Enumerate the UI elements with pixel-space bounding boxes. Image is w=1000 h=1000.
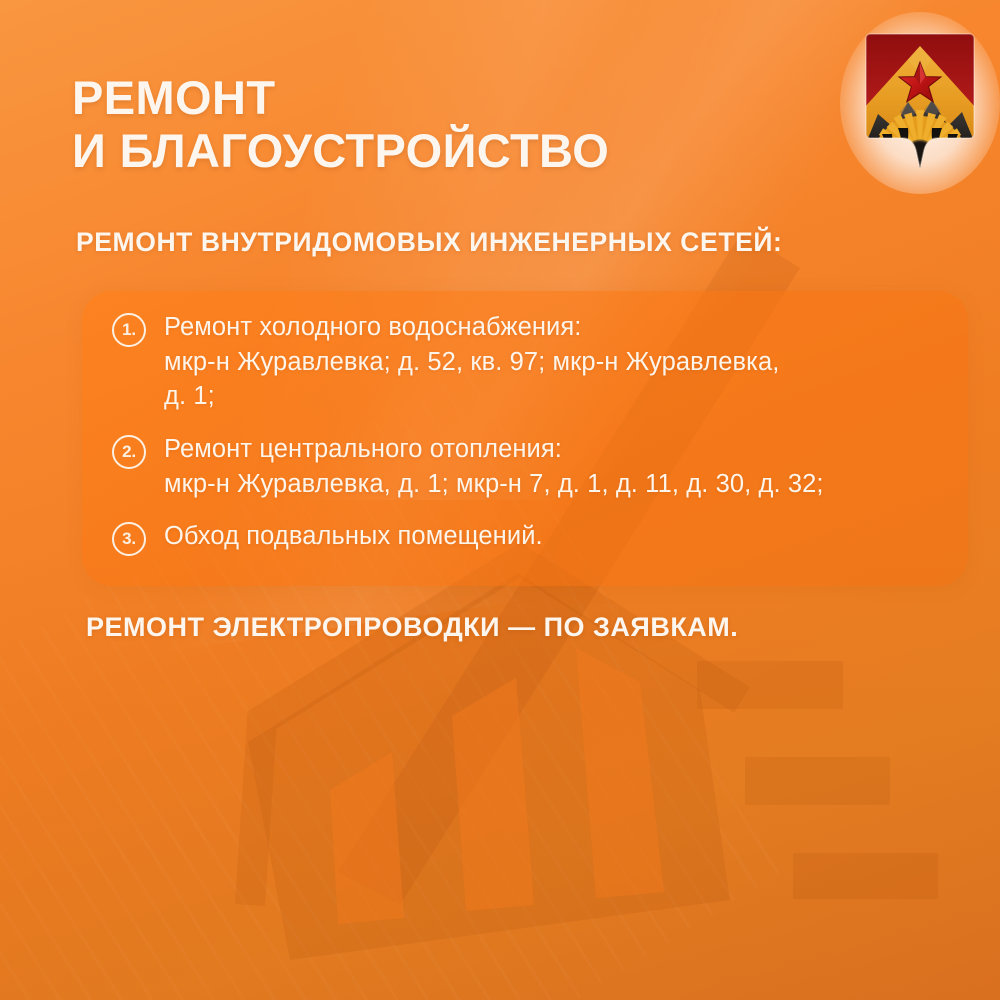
list-item: 1. Ремонт холодного водоснабжения: мкр-н… [112, 310, 982, 414]
brick-shape [793, 853, 938, 899]
coat-of-arms-icon [864, 30, 976, 176]
coat-of-arms-emblem [846, 18, 994, 188]
list-item-line: д. 1; [164, 379, 779, 414]
list-item-line: мкр-н Журавлевка; д. 52, кв. 97; мкр-н Ж… [164, 345, 779, 380]
title-line-1: РЕМОНТ [72, 71, 275, 124]
poster: РЕМОНТ И БЛАГОУСТРОЙСТВО РЕМОНТ ВНУТРИДО… [0, 0, 1000, 1000]
title-line-2: И БЛАГОУСТРОЙСТВО [72, 125, 772, 178]
list-item-text: Ремонт центрального отопления: мкр-н Жур… [164, 432, 824, 501]
works-list: 1. Ремонт холодного водоснабжения: мкр-н… [112, 310, 982, 556]
section-subtitle: РЕМОНТ ВНУТРИДОМОВЫХ ИНЖЕНЕРНЫХ СЕТЕЙ: [76, 227, 956, 258]
list-item-line: Обход подвальных помещений. [164, 519, 543, 554]
list-item: 3. Обход подвальных помещений. [112, 519, 982, 556]
brick-shape [745, 757, 890, 805]
list-item-text: Обход подвальных помещений. [164, 519, 543, 554]
brick-shape [697, 661, 843, 709]
list-item-line: мкр-н Журавлевка, д. 1; мкр-н 7, д. 1, д… [164, 467, 824, 502]
list-item: 2. Ремонт центрального отопления: мкр-н … [112, 432, 982, 501]
footnote-text: РЕМОНТ ЭЛЕКТРОПРОВОДКИ — ПО ЗАЯВКАМ. [86, 612, 738, 643]
list-item-text: Ремонт холодного водоснабжения: мкр-н Жу… [164, 310, 779, 414]
list-item-line: Ремонт холодного водоснабжения: [164, 310, 779, 345]
list-item-line: Ремонт центрального отопления: [164, 432, 824, 467]
list-number-badge: 3. [112, 522, 146, 556]
page-title: РЕМОНТ И БЛАГОУСТРОЙСТВО [72, 72, 772, 177]
list-number-badge: 1. [112, 313, 146, 347]
list-number-badge: 2. [112, 435, 146, 469]
